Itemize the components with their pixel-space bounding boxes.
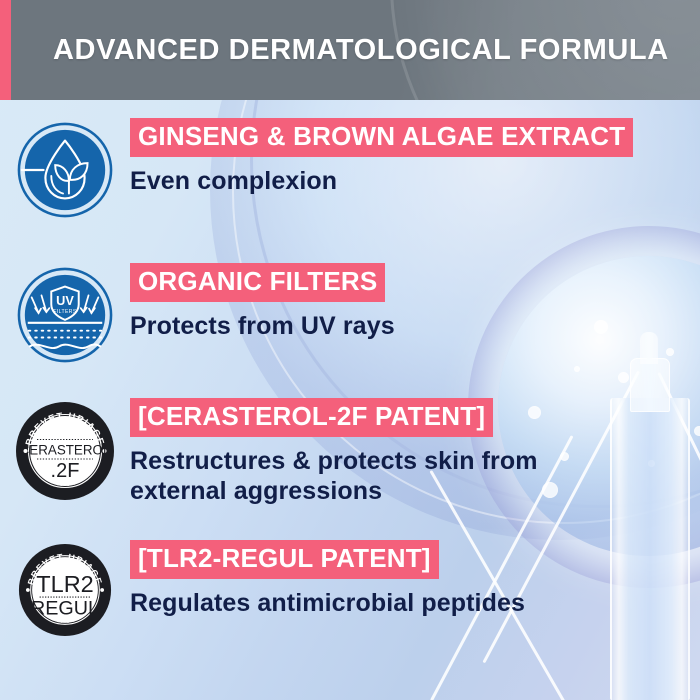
product-infographic: ADVANCED DERMATOLOGICAL FORMULA GINSENG … bbox=[0, 0, 700, 700]
svg-text:UV: UV bbox=[56, 293, 74, 308]
benefit-text: GINSENG & BROWN ALGAE EXTRACT Even compl… bbox=[130, 118, 700, 196]
icon-cell: UV FILTERS bbox=[0, 263, 130, 364]
benefit-description: Restructures & protects skin from extern… bbox=[130, 446, 600, 507]
icon-cell: BREVET URIAGE URIAGE PATENT CERASTEROL .… bbox=[0, 398, 130, 501]
page-title: ADVANCED DERMATOLOGICAL FORMULA bbox=[53, 0, 669, 100]
benefit-description: Regulates antimicrobial peptides bbox=[130, 588, 600, 619]
icon-cell: BREVET URIAGE URIAGE PATENT TLR2 REGUL bbox=[0, 540, 130, 637]
benefit-text: ORGANIC FILTERS Protects from UV rays bbox=[130, 263, 700, 341]
benefit-description: Even complexion bbox=[130, 166, 600, 197]
benefit-headline: GINSENG & BROWN ALGAE EXTRACT bbox=[130, 118, 633, 157]
svg-text:TLR2: TLR2 bbox=[36, 571, 93, 597]
uv-filter-shield-icon: UV FILTERS bbox=[16, 266, 114, 364]
svg-text:.2F: .2F bbox=[51, 460, 80, 482]
benefit-description: Protects from UV rays bbox=[130, 311, 600, 342]
benefit-row: BREVET URIAGE URIAGE PATENT TLR2 REGUL [… bbox=[0, 540, 700, 637]
benefit-headline: ORGANIC FILTERS bbox=[130, 263, 385, 302]
benefit-headline: [TLR2-REGUL PATENT] bbox=[130, 540, 439, 579]
icon-cell bbox=[0, 118, 130, 219]
svg-text:FILTERS: FILTERS bbox=[53, 309, 76, 315]
benefit-text: [CERASTEROL-2F PATENT] Restructures & pr… bbox=[130, 398, 700, 507]
benefit-list: GINSENG & BROWN ALGAE EXTRACT Even compl… bbox=[0, 100, 700, 700]
header-banner: ADVANCED DERMATOLOGICAL FORMULA bbox=[0, 0, 700, 100]
cerasterol-patent-seal-icon: BREVET URIAGE URIAGE PATENT CERASTEROL .… bbox=[15, 401, 115, 501]
benefit-row: GINSENG & BROWN ALGAE EXTRACT Even compl… bbox=[0, 118, 700, 219]
tlr2-regul-patent-seal-icon: BREVET URIAGE URIAGE PATENT TLR2 REGUL bbox=[18, 543, 112, 637]
svg-text:REGUL: REGUL bbox=[31, 597, 99, 619]
benefit-headline: [CERASTEROL-2F PATENT] bbox=[130, 398, 493, 437]
benefit-text: [TLR2-REGUL PATENT] Regulates antimicrob… bbox=[130, 540, 700, 618]
droplet-leaf-icon bbox=[16, 121, 114, 219]
benefit-row: BREVET URIAGE URIAGE PATENT CERASTEROL .… bbox=[0, 398, 700, 507]
header-accent-bar bbox=[0, 0, 11, 100]
benefit-row: UV FILTERS ORGA bbox=[0, 263, 700, 364]
svg-text:CERASTEROL: CERASTEROL bbox=[20, 443, 111, 458]
